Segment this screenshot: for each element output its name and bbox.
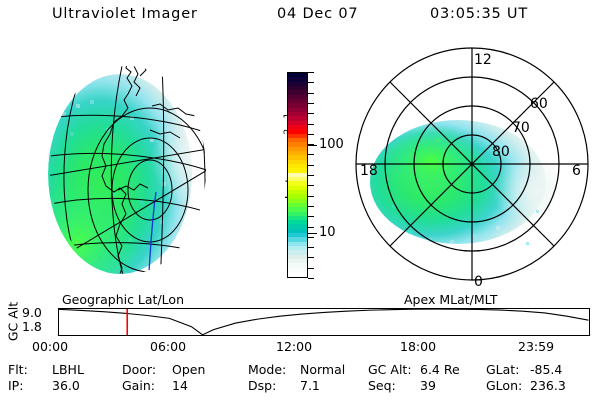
status-value: 7.1 [300,378,320,393]
header-bar: Ultraviolet Imager 04 Dec 07 03:05:35 UT [0,6,600,28]
colorbar-tick-minor [308,113,314,114]
mlt-label-6: 6 [572,163,581,179]
mlt-spokes [356,48,588,280]
status-value: LBHL [52,362,84,377]
apex-panel-subtitle: Apex MLat/MLT [404,292,498,307]
apex-polar-svg: 12 18 6 0 60 70 80 [340,42,600,290]
colorbar-tick-minor [308,185,314,186]
colorbar-tick-minor [308,278,314,279]
geographic-image-panel[interactable] [10,42,255,290]
colorbar-band [288,272,307,276]
colorbar-tick-minor [308,206,314,207]
orbit-ytick-low: 1.8 [22,319,42,334]
instrument-title: Ultraviolet Imager [52,6,198,22]
orbit-ylabel: GC Alt [6,294,21,350]
status-value: 39 [420,378,436,393]
orbit-xtick-label: 12:00 [276,339,312,354]
status-key: Gain: [122,378,155,393]
colorbar-tick-minor [308,165,314,166]
status-key: Seq: [368,378,396,393]
orbit-xtick-label: 06:00 [150,339,186,354]
apex-image-panel[interactable]: 12 18 6 0 60 70 80 [340,42,600,290]
aurora-emission-geographic [40,74,218,276]
colorbar-tick-minor [308,227,314,228]
aurora-emission-apex [370,120,558,245]
status-key: IP: [8,378,23,393]
orbit-ytick-high: 9.0 [22,305,42,320]
colorbar-tick-minor [308,216,314,217]
status-value: Open [172,362,205,377]
colorbar-tick-minor [308,175,314,176]
colorbar-ticks: 10010 [308,72,342,280]
orbit-xtick-label: 18:00 [400,339,436,354]
colorbar-tick-minor [308,196,314,197]
orbit-altitude-panel[interactable]: Geographic Lat/Lon Apex MLat/MLT GC Alt … [0,292,600,354]
observation-date: 04 Dec 07 [277,6,358,22]
colorbar-tick-label: 10 [319,225,336,240]
orbit-xtick-label: 00:00 [32,339,68,354]
colorbar-tick-minor [308,257,314,258]
status-key: GC Alt: [368,362,412,377]
orbit-track-svg [59,309,589,335]
mlt-label-0: 0 [474,274,483,290]
observation-time: 03:05:35 UT [430,6,528,22]
colorbar-tick-minor [308,82,314,83]
mlat-label-70: 70 [512,120,530,136]
colorbar-tick-minor [308,154,314,155]
status-value: 236.3 [530,378,566,393]
status-value: Normal [300,362,345,377]
colorbar-tick-minor [308,72,314,73]
geographic-panel-subtitle: Geographic Lat/Lon [62,292,184,307]
status-key: Door: [122,362,156,377]
colorbar-tick-minor [308,247,314,248]
colorbar-tick-minor [308,237,314,238]
orbit-track-line [59,309,589,335]
colorbar-tick-minor [308,93,314,94]
status-value: 36.0 [52,378,80,393]
colorbar-tick-minor [308,124,314,125]
colorbar-tick-minor [308,268,314,269]
mlt-label-12: 12 [474,52,492,68]
uvi-display: Ultraviolet Imager 04 Dec 07 03:05:35 UT [0,0,600,400]
status-footer: Flt:LBHLDoor:OpenMode:NormalGC Alt:6.4 R… [0,362,600,396]
colorbar-tick-minor [308,103,314,104]
mlat-label-80: 80 [492,144,510,160]
status-key: GLon: [486,378,522,393]
status-key: Dsp: [248,378,276,393]
orbit-xtick-label: 23:59 [518,339,554,354]
status-value: -85.4 [530,362,562,377]
status-value: 14 [172,378,188,393]
geographic-globe-svg [10,42,255,290]
status-value: 6.4 Re [420,362,460,377]
colorbar-tick-minor [308,134,314,135]
orbit-altitude-chart[interactable] [58,308,590,336]
mlat-label-60: 60 [530,96,548,112]
colorbar-gradient[interactable] [287,72,308,278]
colorbar-tick-major [308,233,317,234]
mlt-label-18: 18 [360,163,378,179]
colorbar-tick-major [308,145,317,146]
colorbar-panel: photon cm-2s-1 10010 [258,60,340,290]
status-key: Flt: [8,362,28,377]
status-key: Mode: [248,362,286,377]
status-key: GLat: [486,362,519,377]
